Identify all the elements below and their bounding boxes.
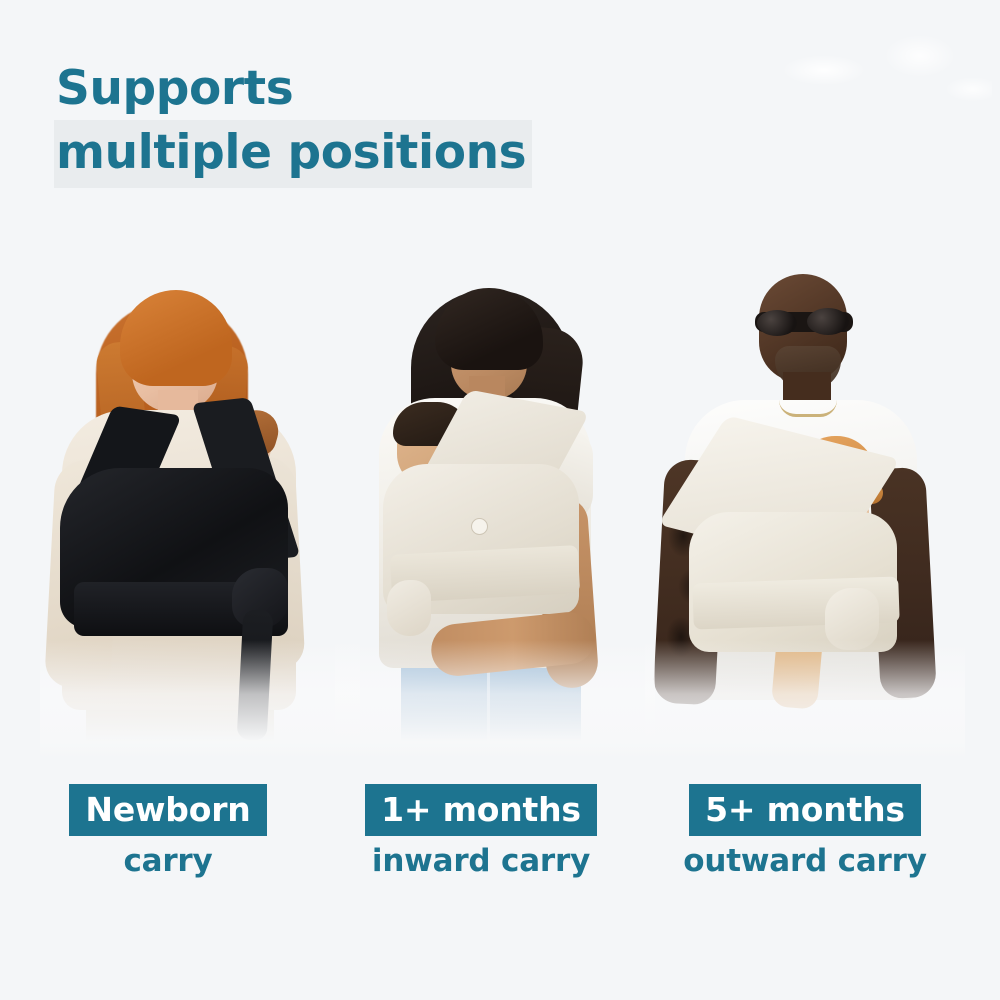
photo-stage-1 bbox=[40, 250, 360, 760]
wrap-3-knot bbox=[825, 588, 879, 650]
page-title: Supports multiple positions bbox=[56, 58, 676, 188]
caption-badge-1: Newborn bbox=[69, 784, 266, 836]
photo-stage-3 bbox=[645, 250, 965, 760]
caption-badge-3: 5+ months bbox=[689, 784, 921, 836]
man-3-necklace bbox=[779, 400, 837, 417]
photo-stage-2 bbox=[335, 250, 655, 760]
caption-inward-carry: 1+ months inward carry bbox=[353, 784, 609, 878]
caption-row: Newborn carry 1+ months inward carry 5+ … bbox=[0, 784, 1000, 894]
sunglasses-lens-left bbox=[757, 310, 797, 336]
background-artifact bbox=[752, 18, 992, 113]
caption-outward-carry: 5+ months outward carry bbox=[665, 784, 945, 878]
wrap-2-knot bbox=[387, 580, 431, 636]
sunglasses-lens-right bbox=[807, 308, 849, 335]
caption-sub-2: inward carry bbox=[353, 845, 609, 878]
page-title-line-2: multiple positions bbox=[54, 120, 532, 188]
photo-newborn-carry bbox=[40, 250, 360, 760]
wrap-2-button bbox=[471, 518, 488, 535]
caption-badge-2: 1+ months bbox=[365, 784, 597, 836]
photo-inward-carry bbox=[335, 250, 655, 760]
caption-newborn-carry: Newborn carry bbox=[40, 784, 296, 878]
photo-row bbox=[0, 250, 1000, 760]
caption-sub-3: outward carry bbox=[665, 845, 945, 878]
woman-1-hair-front bbox=[120, 290, 232, 386]
photo-outward-carry bbox=[645, 250, 965, 760]
page-title-line-1: Supports bbox=[56, 58, 676, 120]
promo-graphic: Supports multiple positions bbox=[0, 0, 1000, 1000]
caption-sub-1: carry bbox=[40, 845, 296, 878]
